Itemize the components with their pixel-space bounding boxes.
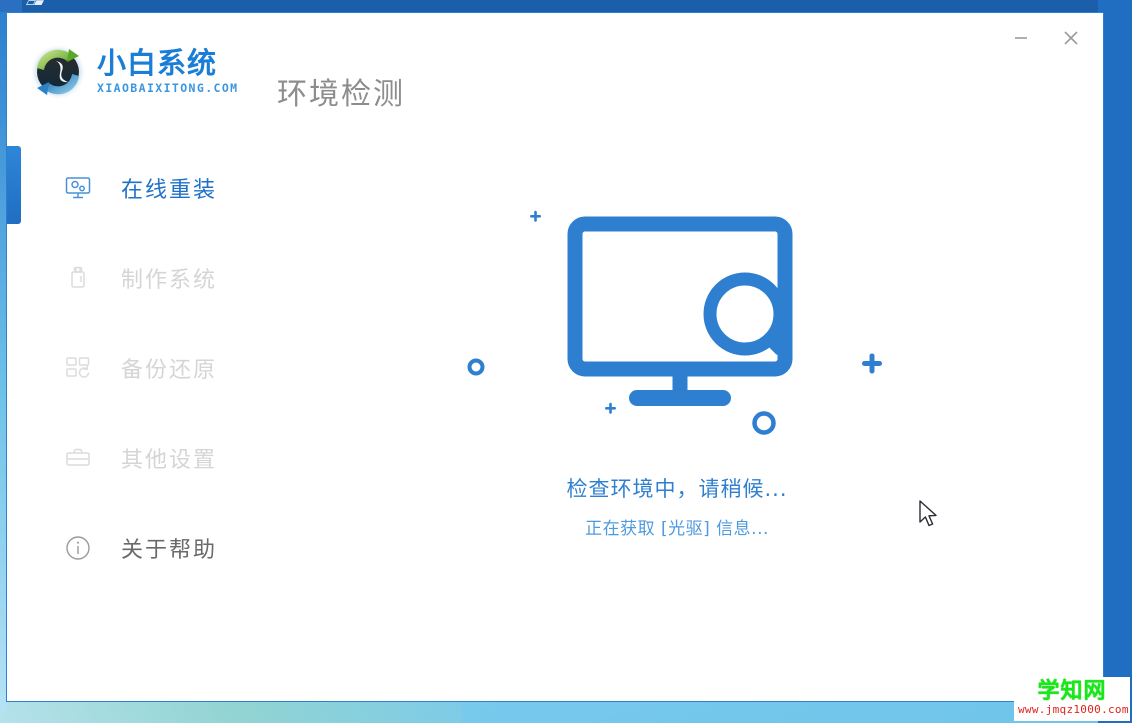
close-button[interactable] [1049,21,1093,55]
logo-circle-arrows-icon [29,43,87,101]
sidebar-item-make-system[interactable]: 制作系统 [7,233,257,323]
status-primary-text: 检查环境中，请稍候... [447,473,907,503]
sidebar-item-other-settings[interactable]: 其他设置 [7,413,257,503]
sidebar-item-online-reinstall[interactable]: 在线重装 [7,143,257,233]
sparkle-plus-bottom-left [605,403,616,414]
info-circle-icon [63,533,93,563]
sidebar-item-about-help[interactable]: 关于帮助 [7,503,257,593]
logo-chinese-name: 小白系统 [97,49,239,78]
titlebar[interactable]: 小白系统 XIAOBAIXITONG.COM 环境检测 [7,13,1103,133]
sparkle-plus-right [862,354,882,374]
sidebar-item-label: 备份还原 [121,352,217,384]
sidebar: 在线重装 制作系统 [7,143,257,593]
sidebar-item-label: 其他设置 [121,442,217,474]
watermark-url: www.jmqz1000.com [1018,703,1126,716]
sidebar-item-label: 在线重装 [121,172,217,204]
toolbox-icon [63,443,93,473]
usb-drive-icon [63,263,93,293]
page-title: 环境检测 [277,69,405,113]
main-content: 检查环境中，请稍候... 正在获取 [光驱] 信息... [257,143,1103,701]
sidebar-item-label: 制作系统 [121,262,217,294]
window-controls [999,21,1093,55]
logo-domain-text: XIAOBAIXITONG.COM [97,83,239,95]
application-window: 小白系统 XIAOBAIXITONG.COM 环境检测 [6,12,1104,702]
backup-restore-icon [63,353,93,383]
sparkle-plus-top-left [530,211,541,222]
status-secondary-text: 正在获取 [光驱] 信息... [447,514,907,539]
watermark-title: 学知网 [1018,680,1126,703]
background-window-icons: ▱▰ [26,0,106,10]
watermark: 学知网 www.jmqz1000.com [1014,677,1130,721]
logo-wordmark: 小白系统 XIAOBAIXITONG.COM [97,49,239,95]
status-block: 检查环境中，请稍候... 正在获取 [光驱] 信息... [447,473,907,539]
background-window-corner [0,0,22,12]
sidebar-item-backup-restore[interactable]: 备份还原 [7,323,257,413]
sidebar-item-label: 关于帮助 [121,532,217,564]
minimize-button[interactable] [999,21,1043,55]
monitor-settings-icon [63,173,93,203]
monitor-magnifier-illustration [447,201,907,461]
app-logo: 小白系统 XIAOBAIXITONG.COM [29,43,239,101]
